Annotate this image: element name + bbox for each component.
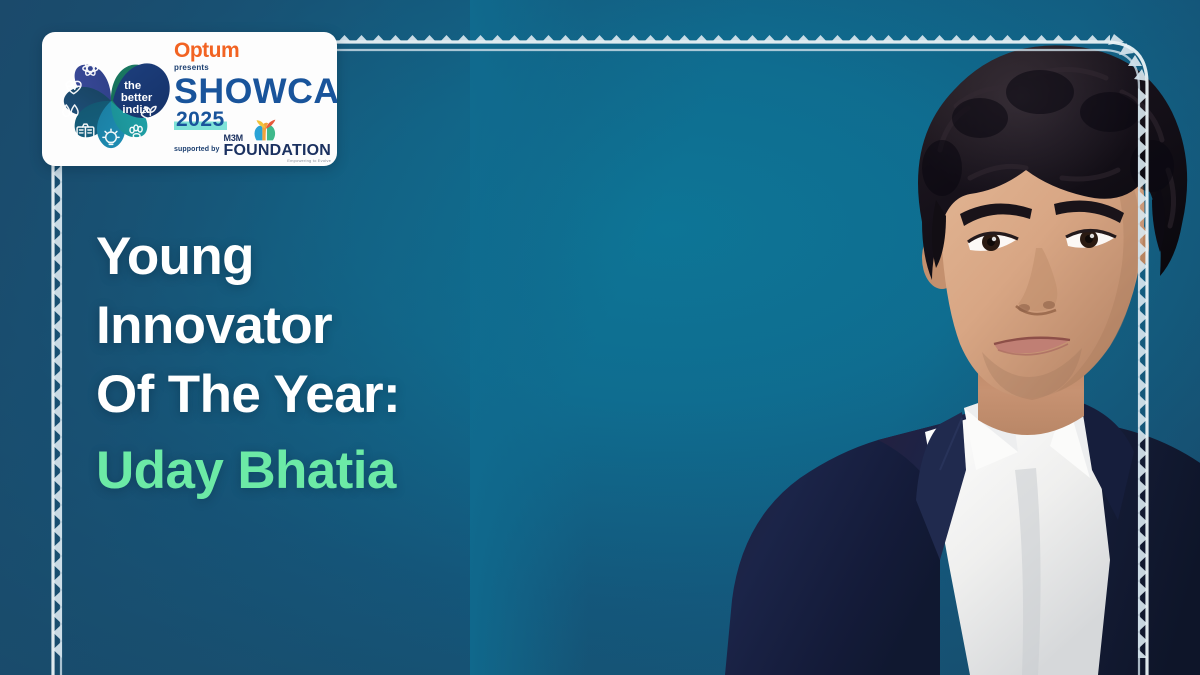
foundation-name: FOUNDATION bbox=[224, 143, 331, 158]
optum-logo: Optum bbox=[174, 40, 337, 62]
the-better-india-logo: the better india bbox=[52, 40, 170, 158]
honoree-name: Uday Bhatia bbox=[96, 436, 566, 505]
foundation-tagline: Empowering to Evolve bbox=[224, 158, 331, 164]
headline-line-1: Young bbox=[96, 222, 566, 291]
sponsor-logo-card: the better india Optum presents SHOWCASE… bbox=[42, 32, 337, 166]
showcase-title: SHOWCASE bbox=[174, 74, 337, 109]
tbi-word-better: better bbox=[121, 92, 153, 104]
tbi-word-the: the bbox=[124, 80, 141, 92]
headline-line-2: Innovator bbox=[96, 291, 566, 360]
foundation-bird-icon bbox=[252, 118, 278, 142]
event-lockup: Optum presents SHOWCASE 2025 supported b… bbox=[170, 38, 337, 160]
headline-line-3: Of The Year: bbox=[96, 360, 566, 429]
m3m-foundation-logo: M3M FOUNDATION Empowering to Evolve bbox=[224, 134, 331, 164]
headline-block: Young Innovator Of The Year: Uday Bhatia bbox=[96, 222, 566, 505]
event-year: 2025 bbox=[174, 110, 227, 130]
supported-by-label: supported by bbox=[174, 145, 220, 154]
tbi-word-india: india bbox=[122, 104, 149, 116]
poster-stage: Young Innovator Of The Year: Uday Bhatia bbox=[0, 0, 1200, 675]
